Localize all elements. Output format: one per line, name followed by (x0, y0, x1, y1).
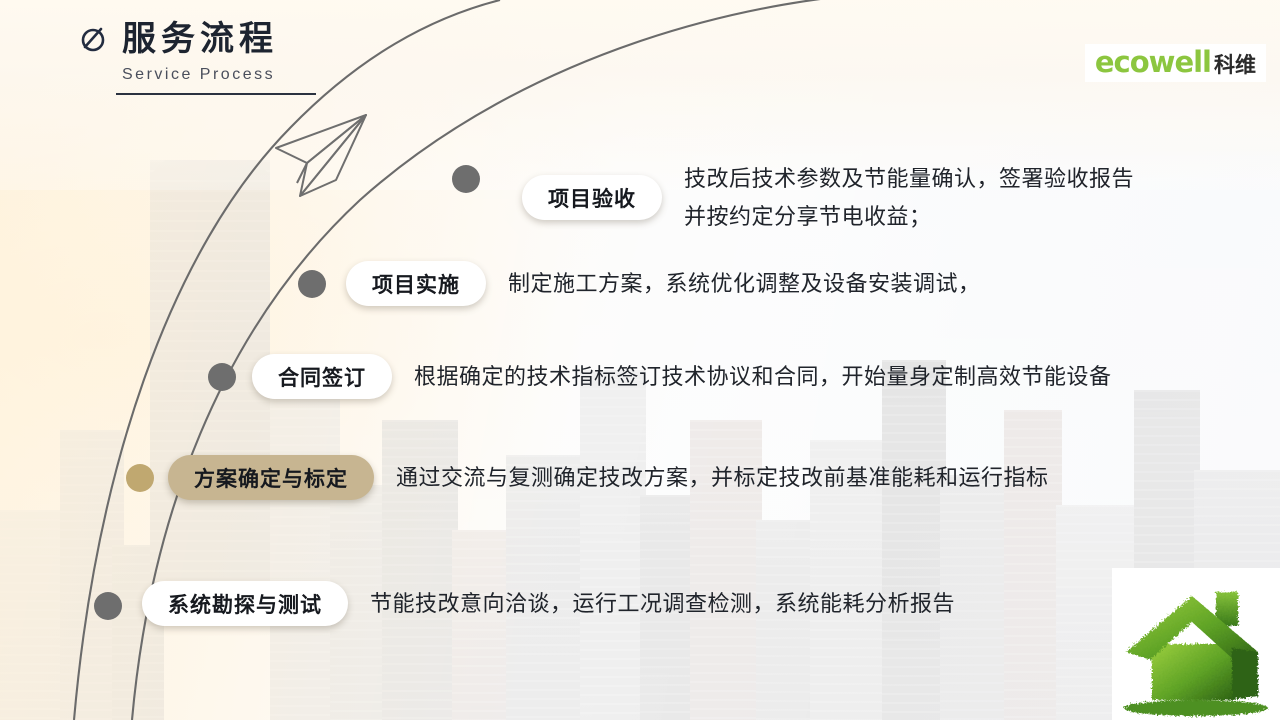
title-underline (116, 93, 316, 95)
page-subtitle: Service Process (122, 66, 408, 84)
step-contract-signing[interactable]: 合同签订 根据确定的技术指标签订技术协议和合同，开始量身定制高效节能设备 (208, 354, 1112, 399)
step-marker-dot (452, 165, 480, 193)
step-description-line: 技改后技术参数及节能量确认，签署验收报告 (684, 166, 1134, 191)
page-title: 服务流程 (122, 22, 278, 56)
step-description-line: 根据确定的技术指标签订技术协议和合同，开始量身定制高效节能设备 (414, 364, 1112, 389)
brand-logo-word: ecowell (1095, 48, 1211, 77)
step-description-line: 制定施工方案，系统优化调整及设备安装调试， (508, 271, 981, 296)
step-description: 节能技改意向洽谈，运行工况调查检测，系统能耗分析报告 (370, 585, 955, 623)
step-marker-dot (94, 592, 122, 620)
step-plan-confirmation-and-calibration[interactable]: 方案确定与标定 通过交流与复测确定技改方案，并标定技改前基准能耗和运行指标 (126, 455, 1049, 500)
title-row: 服务流程 (78, 22, 408, 56)
step-pill-system-survey-and-testing[interactable]: 系统勘探与测试 (142, 581, 348, 626)
step-project-acceptance[interactable]: 项目验收 技改后技术参数及节能量确认，签署验收报告 并按约定分享节电收益； (452, 160, 1134, 236)
step-description-line: 通过交流与复测确定技改方案，并标定技改前基准能耗和运行指标 (396, 465, 1049, 490)
step-label: 系统勘探与测试 (168, 589, 322, 619)
step-marker-dot (126, 464, 154, 492)
brand-logo: ecowell 科维 (1085, 44, 1266, 82)
step-marker-dot (208, 363, 236, 391)
step-description-line: 并按约定分享节电收益； (684, 198, 1134, 236)
step-description: 通过交流与复测确定技改方案，并标定技改前基准能耗和运行指标 (396, 459, 1049, 497)
brand-logo-cn: 科维 (1214, 55, 1256, 76)
step-pill-project-acceptance[interactable]: 项目验收 (522, 175, 662, 220)
step-description: 技改后技术参数及节能量确认，签署验收报告 并按约定分享节电收益； (684, 160, 1134, 236)
step-label: 合同签订 (278, 362, 366, 392)
slide-root: 服务流程 Service Process ecowell 科维 项目验收 技改后… (0, 0, 1280, 720)
step-pill-contract-signing[interactable]: 合同签订 (252, 354, 392, 399)
step-project-implementation[interactable]: 项目实施 制定施工方案，系统优化调整及设备安装调试， (298, 261, 981, 306)
step-description: 制定施工方案，系统优化调整及设备安装调试， (508, 265, 981, 303)
step-label: 项目验收 (548, 183, 636, 213)
step-label: 项目实施 (372, 269, 460, 299)
step-label: 方案确定与标定 (194, 463, 348, 493)
step-description: 根据确定的技术指标签订技术协议和合同，开始量身定制高效节能设备 (414, 358, 1112, 396)
green-grass-house-image (1112, 568, 1280, 720)
step-pill-plan-confirmation-and-calibration[interactable]: 方案确定与标定 (168, 455, 374, 500)
step-system-survey-and-testing[interactable]: 系统勘探与测试 节能技改意向洽谈，运行工况调查检测，系统能耗分析报告 (94, 581, 955, 626)
step-pill-project-implementation[interactable]: 项目实施 (346, 261, 486, 306)
page-header: 服务流程 Service Process (78, 22, 408, 95)
step-description-line: 节能技改意向洽谈，运行工况调查检测，系统能耗分析报告 (370, 591, 955, 616)
slashed-circle-icon (78, 24, 108, 54)
step-marker-dot (298, 270, 326, 298)
